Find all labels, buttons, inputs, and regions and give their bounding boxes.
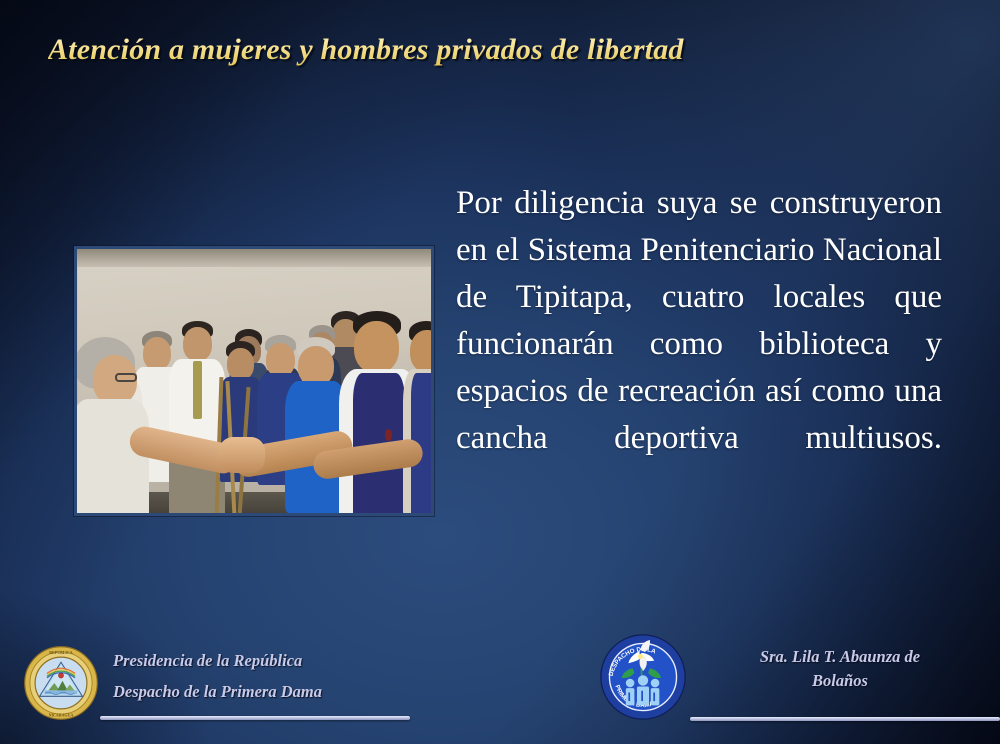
footer-right-text: Sra. Lila T. Abaunza de Bolaños [700,645,980,693]
presentation-slide: Atención a mujeres y hombres privados de… [0,0,1000,744]
photo-person-tanktop-right [403,321,431,513]
escudo-nacional-nicaragua-icon: REPUBLICA NICARAGUA [24,646,98,720]
photo-handshake [219,437,265,473]
slide-title: Atención a mujeres y hombres privados de… [48,33,948,67]
photo-person-first-lady [77,337,149,513]
svg-text:REPUBLICA: REPUBLICA [49,650,73,655]
footer-left-text: Presidencia de la República Despacho de … [113,645,443,707]
footer-divider-right [690,717,1000,721]
footer-first-lady-name-line2: Bolaños [700,669,980,693]
photo-frame [74,246,434,516]
photo-person-bluepolo-2 [285,337,347,512]
slide-body-text: Por diligencia suya se construyeron en e… [456,180,942,509]
photo-handshake-with-inmates [77,249,431,513]
footer-divider-left [100,716,410,720]
despacho-primera-dama-logo-icon: DESPACHO DE LA PRIMERA DAMA [600,634,686,720]
footer-presidencia-label: Presidencia de la República [113,645,443,676]
svg-text:NICARAGUA: NICARAGUA [49,712,74,717]
photo-ceiling [77,249,431,267]
footer-despacho-label: Despacho de la Primera Dama [113,676,443,707]
footer-first-lady-name-line1: Sra. Lila T. Abaunza de [700,645,980,669]
